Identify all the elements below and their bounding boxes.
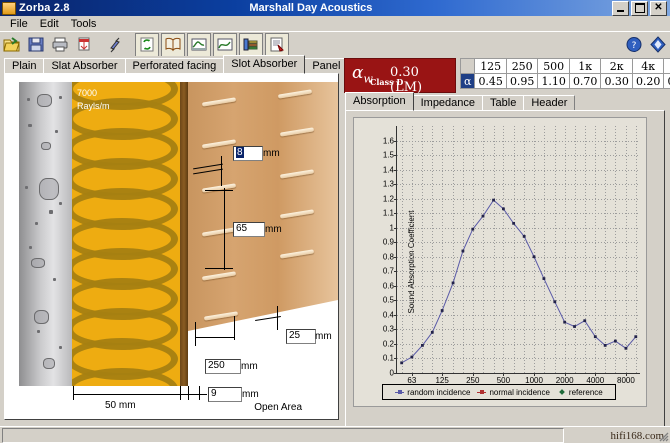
slot-width-field[interactable]: 8 [233,146,263,161]
panel-thickness-unit: mm [242,389,259,400]
legend-item-reference: reference [557,388,603,397]
close-button[interactable]: ✕ [650,1,667,16]
menu-file[interactable]: File [4,17,34,31]
tab-absorption[interactable]: Absorption [345,92,414,111]
y-tick-label: 0.1 [383,354,394,363]
data-point [452,282,455,285]
col-500: 500 [538,59,570,74]
y-tick-label: 0.2 [383,339,394,348]
y-tick-label: 0 [390,369,394,378]
tab-slot-absorber[interactable]: Slot Absorber [223,55,305,74]
dim-slot-length-line [196,337,234,338]
dim-slot-spacing-tick-bottom [205,268,233,269]
panel-thickness-field[interactable]: 9 [208,387,242,402]
y-tick-label: 0.4 [383,310,394,319]
title-bar: Zorba 2.8 Marshall Day Acoustics ✕ [0,0,670,16]
slot-depth-unit: mm [315,331,332,342]
tab-perforated-facing[interactable]: Perforated facing [125,58,225,74]
flow-resistivity-unit: Rayls/m [77,101,110,111]
slot-spacing-field[interactable]: 65 [233,222,265,237]
octave-band-table: 125 250 500 1κ 2κ 4κ 8κ α 0.45 0.95 1.10… [460,58,670,89]
status-bar: hifi168.com [0,426,670,443]
data-point [502,207,505,210]
fibre-squiggle-pattern [72,82,180,386]
tab-table[interactable]: Table [482,95,524,111]
absorption-chart-panel: Sound Absorption Coefficient frequency (… [345,110,665,442]
toolbar-separator-2 [127,34,134,56]
data-point [543,277,546,280]
y-tick-label: 1.3 [383,180,394,189]
data-point [563,321,566,324]
slot-length-unit: mm [241,361,258,372]
maximize-button[interactable] [631,1,648,16]
y-tick-label: 1.6 [383,136,394,145]
y-tick [394,373,397,374]
construction-diagram-panel: 7000 Rayls/m [4,73,339,420]
y-tick [394,300,397,301]
col-8k: 8κ [664,59,670,74]
tab-plain[interactable]: Plain [4,58,44,74]
cell-250: 0.95 [506,74,538,89]
window-controls: ✕ [612,1,667,16]
data-point [492,199,495,202]
data-point [604,344,607,347]
legend-label-normal: normal incidence [489,388,549,397]
data-point [573,325,576,328]
about-icon[interactable] [647,34,669,56]
cell-4k: 0.20 [632,74,664,89]
y-tick [394,228,397,229]
print-icon[interactable] [49,34,71,56]
legend-label-reference: reference [569,388,603,397]
y-tick-label: 1.4 [383,165,394,174]
library-icon[interactable] [161,33,185,57]
cell-8k: 0.15 [664,74,670,89]
results-tabs: Absorption Impedance Table Header [345,94,574,111]
slot-spacing-unit: mm [265,224,282,235]
data-point [523,235,526,238]
tab-header[interactable]: Header [523,95,575,111]
cell-500: 1.10 [538,74,570,89]
data-point [512,222,515,225]
toolbar-separator-1 [96,34,103,56]
data-point [471,228,474,231]
gridline-h [397,300,640,301]
data-point [410,356,413,359]
y-tick-label: 0.3 [383,325,394,334]
y-tick-label: 0.7 [383,267,394,276]
y-tick-label: 1.1 [383,209,394,218]
data-point [583,319,586,322]
data-point [431,331,434,334]
y-tick [394,344,397,345]
data-point [441,309,444,312]
toolbar: ? [0,31,670,58]
gridline-h [397,286,640,287]
col-2k: 2κ [601,59,633,74]
table-icon[interactable] [239,33,263,57]
data-point [533,255,536,258]
report-icon[interactable] [265,33,289,57]
data-point [634,335,637,338]
plot-box: Sound Absorption Coefficient frequency (… [353,117,647,407]
y-tick-label: 1 [390,223,394,232]
legend-marker-reference [557,389,566,396]
table-header-row: 125 250 500 1κ 2κ 4κ 8κ [461,59,670,74]
dim-slot-length-tick-left [195,322,196,346]
y-tick-label: 0.6 [383,281,394,290]
dim-slot-depth-line [277,306,278,330]
backing-wall-layer [19,82,72,386]
dim-cavity-tick-left [73,386,74,400]
slot-depth-field[interactable]: 25 [286,329,316,344]
app-title: Zorba 2.8 [19,2,70,14]
x-tick-label: 8000 [617,376,635,385]
data-point [625,347,628,350]
row-header-alpha: α [461,74,475,89]
resize-grip-icon[interactable] [657,430,669,442]
dim-slot-spacing-line [224,188,225,270]
plot-area: 00.10.20.30.40.50.60.70.80.911.11.21.31.… [396,126,640,374]
tab-impedance[interactable]: Impedance [413,95,483,111]
menu-edit[interactable]: Edit [34,17,65,31]
legend-item-random-incidence: random incidence [395,388,470,397]
y-tick [394,286,397,287]
col-250: 250 [506,59,538,74]
chart-legend: random incidence normal incidence [382,384,616,400]
slot-length-field[interactable]: 250 [205,359,241,374]
dim-cavity-line [74,394,181,395]
table-row: α 0.45 0.95 1.10 0.70 0.30 0.20 0.15 [461,74,670,89]
y-tick [394,155,397,156]
col-1k: 1κ [569,59,601,74]
y-tick [394,184,397,185]
panel-edge-layer [180,82,188,386]
alpha-w-badge: αw 0.30 (LM) Class D [344,58,456,93]
y-tick [394,315,397,316]
data-point [400,361,403,364]
y-tick [394,242,397,243]
dim-thickness-tick-right [199,386,200,400]
y-tick [394,141,397,142]
data-point [594,335,597,338]
legend-label-random: random incidence [407,388,470,397]
col-125: 125 [475,59,507,74]
open-icon[interactable] [1,34,23,56]
legend-item-normal-incidence: normal incidence [477,388,549,397]
help-icon[interactable]: ? [623,34,645,56]
menu-bar: File Edit Tools [0,16,670,31]
slot-absorber-diagram: 7000 Rayls/m [5,74,338,419]
flow-resistivity-value: 7000 [77,88,97,98]
construction-tabs: Plain Slat Absorber Perforated facing Sl… [4,57,347,74]
legend-marker-normal [477,389,486,396]
y-tick-label: 0.5 [383,296,394,305]
menu-tools[interactable]: Tools [65,17,103,31]
y-tick-label: 1.5 [383,151,394,160]
results-pane: αw 0.30 (LM) Class D 125 250 500 1κ 2κ 4… [342,56,666,443]
y-tick-label: 0.8 [383,252,394,261]
tab-slat-absorber[interactable]: Slat Absorber [43,58,125,74]
save-icon[interactable] [25,34,47,56]
y-tick [394,257,397,258]
table-corner-cell [461,59,475,74]
gridline-h [397,358,640,359]
y-tick [394,271,397,272]
col-4k: 4κ [632,59,664,74]
dim-thickness-tick-left [188,386,189,400]
svg-text:?: ? [632,41,637,51]
cell-1k: 0.70 [569,74,601,89]
app-icon [2,2,16,15]
cell-125: 0.45 [475,74,507,89]
y-tick [394,213,397,214]
chart-absorption-icon[interactable] [187,33,211,57]
minimize-button[interactable] [612,1,629,16]
legend-marker-random [395,389,404,396]
refresh-icon[interactable] [135,33,159,57]
open-area-label: Open Area [254,402,302,413]
dim-slot-width-line [221,156,222,186]
content-area: Plain Slat Absorber Perforated facing Sl… [0,56,670,443]
series-line [397,126,670,276]
y-tick [394,358,397,359]
dim-cavity-tick-right [180,386,181,400]
data-point [421,344,424,347]
chart-impedance-icon[interactable] [213,33,237,57]
export-icon[interactable] [73,34,95,56]
calculate-icon[interactable] [104,34,126,56]
y-tick [394,170,397,171]
y-tick [394,329,397,330]
data-point [614,340,617,343]
dim-slot-spacing-tick-top [205,190,233,191]
data-point [462,250,465,253]
watermark: hifi168.com [611,430,664,442]
y-tick [394,199,397,200]
status-message-area [2,428,564,443]
y-tick-label: 0.9 [383,238,394,247]
window-center-title: Marshall Day Acoustics [70,2,612,14]
dim-thickness-line [181,394,207,395]
slot-width-unit: mm [263,148,280,159]
dim-slot-length-tick-right [234,316,235,340]
alpha-w-class: Class D [370,77,403,87]
cell-2k: 0.30 [601,74,633,89]
gridline-h [397,315,640,316]
data-point [482,215,485,218]
cavity-depth-label: 50 mm [105,400,136,411]
data-point [553,300,556,303]
y-tick-label: 1.2 [383,194,394,203]
